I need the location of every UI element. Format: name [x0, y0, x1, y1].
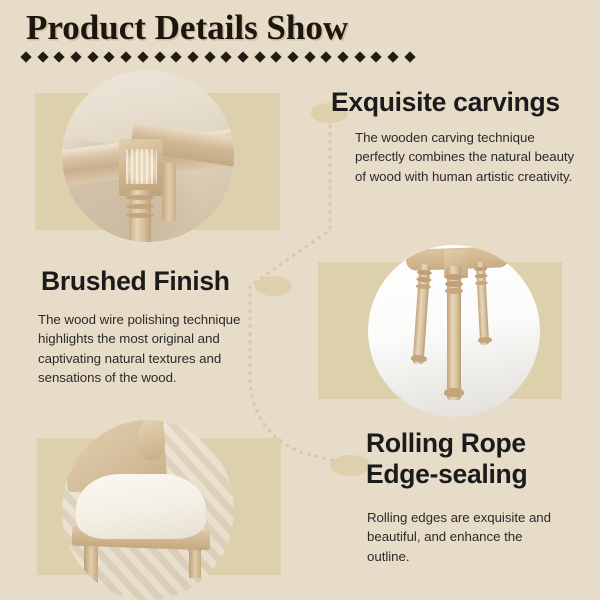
connector-node-rolling-rope — [330, 455, 370, 476]
infographic-canvas: Product Details Show — [0, 0, 600, 600]
connector-node-brushed-finish — [255, 276, 292, 296]
section-body-rolling-rope-edge-sealing: Rolling edges are exquisite and beautifu… — [367, 508, 567, 566]
section-heading-rolling-rope-edge-sealing: Rolling Rope Edge-sealing — [366, 428, 527, 490]
section-body-exquisite-carvings: The wooden carving technique perfectly c… — [355, 128, 577, 186]
section-heading-brushed-finish: Brushed Finish — [41, 265, 230, 297]
section-heading-exquisite-carvings: Exquisite carvings — [331, 86, 560, 118]
section-heading-line-1: Rolling Rope — [366, 428, 527, 459]
section-heading-line-2: Edge-sealing — [366, 459, 527, 490]
section-body-brushed-finish: The wood wire polishing technique highli… — [38, 310, 243, 388]
